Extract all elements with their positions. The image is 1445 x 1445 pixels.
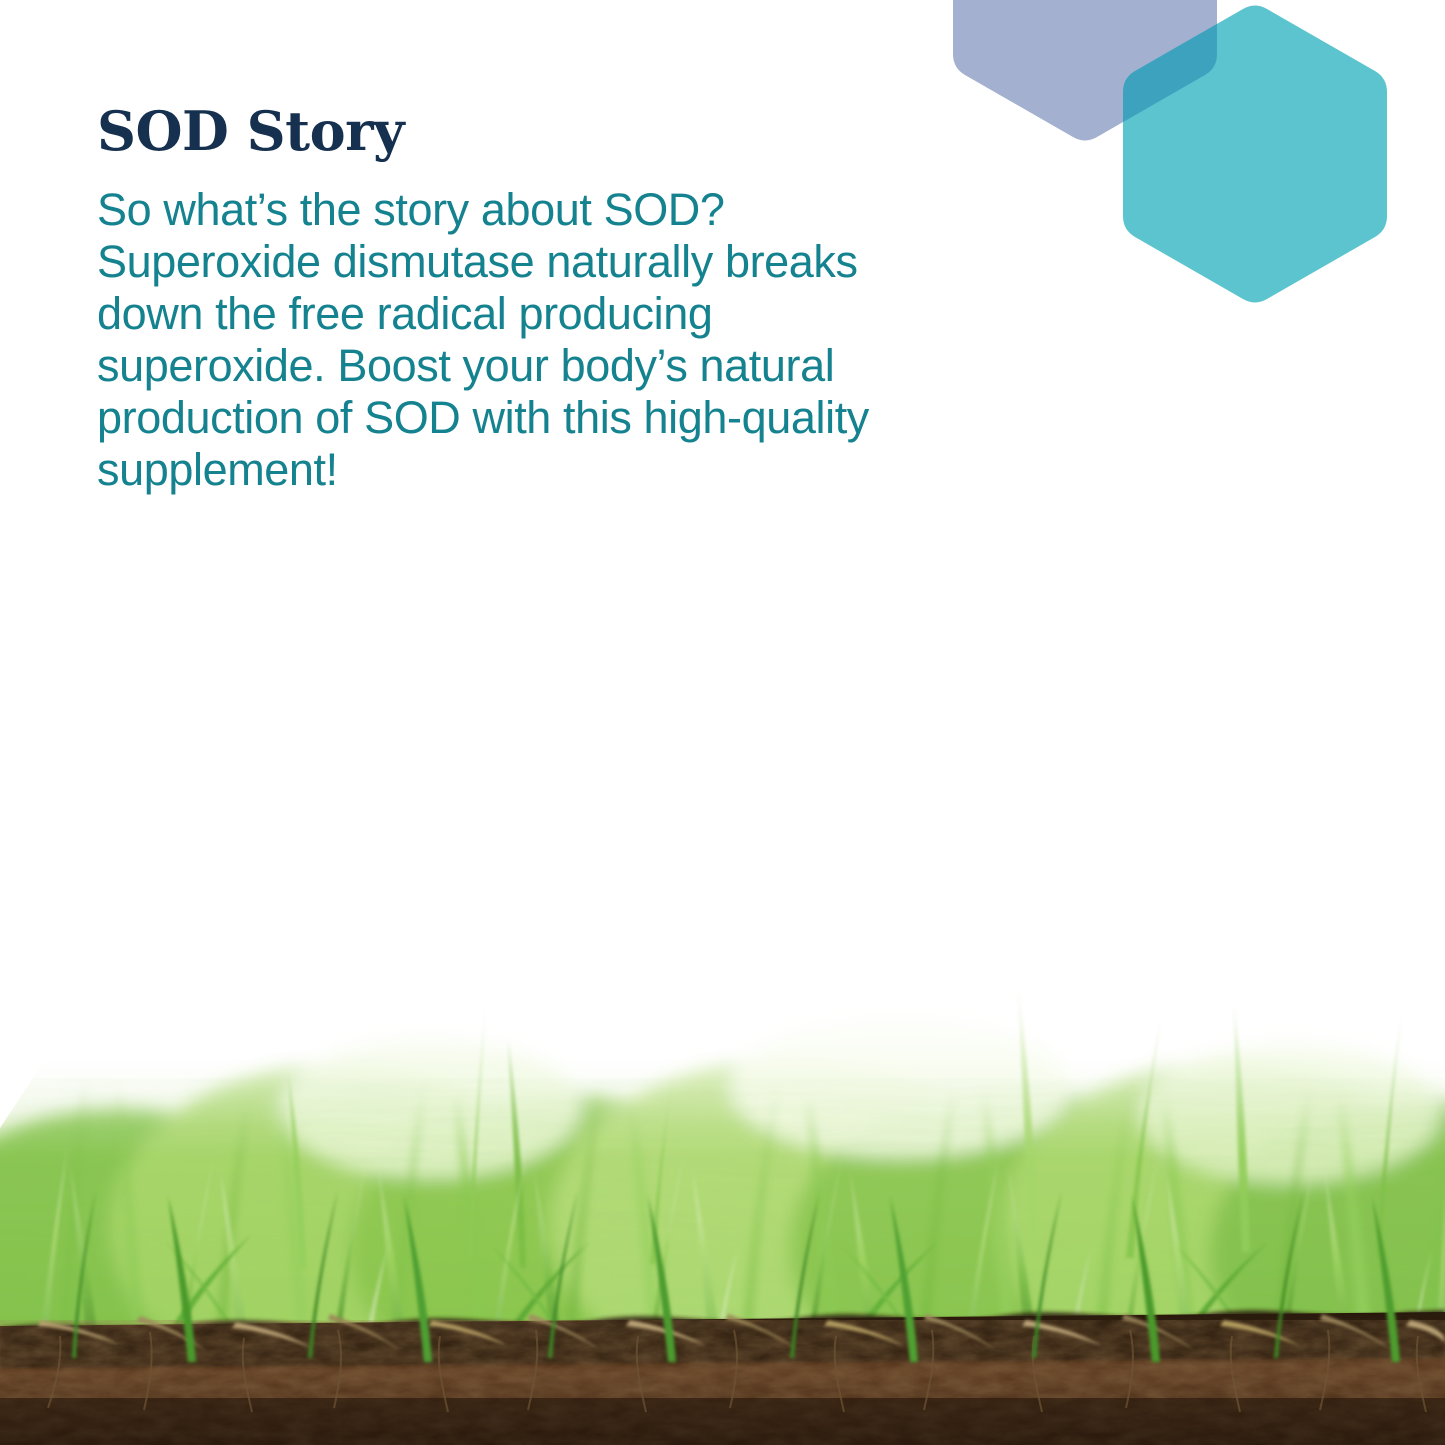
teal-hexagon-shape: [1123, 6, 1387, 303]
marketing-infographic-page: SOD Story So what’s the story about SOD?…: [0, 0, 1445, 1445]
grass-photo: [0, 928, 1445, 1445]
periwinkle-hexagon-shape: [953, 0, 1217, 141]
body-paragraph: So what’s the story about SOD? Superoxid…: [97, 184, 887, 496]
text-block: SOD Story So what’s the story about SOD?…: [97, 104, 897, 496]
page-title: SOD Story: [97, 104, 897, 158]
hexagon-decoration: [925, 0, 1445, 360]
hexagon-overlap-region: [953, 0, 1217, 141]
